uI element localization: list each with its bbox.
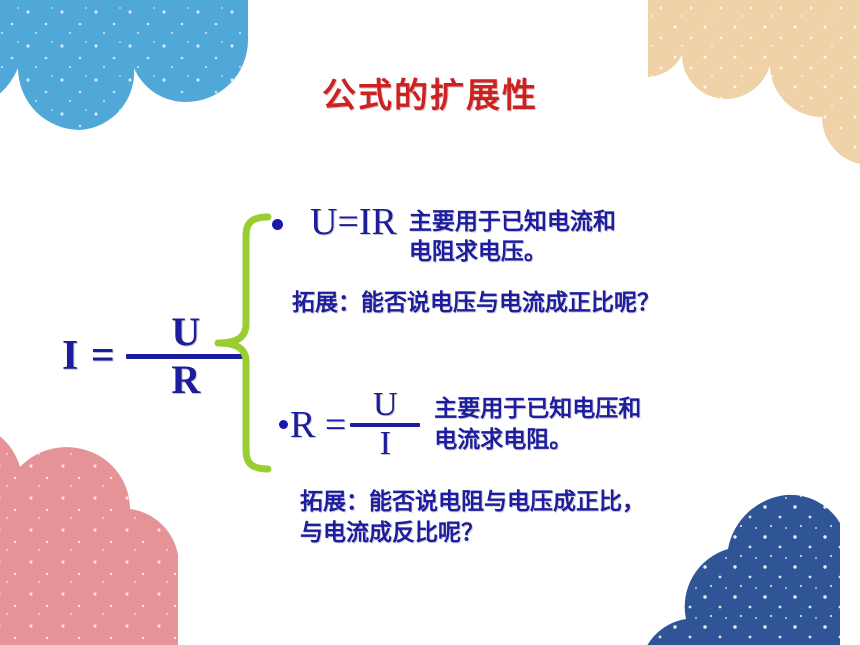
bullet-icon <box>272 219 283 230</box>
list-item-rui: R = U I 主要用于已知电压和 电流求电阻。 <box>279 388 641 461</box>
formula-uir: U=IR <box>310 203 397 241</box>
slide-canvas: 公式的扩展性 I = U R U=IR 主要用于已知电流和 电阻求电压。 拓展：… <box>0 0 860 645</box>
page-title: 公式的扩展性 <box>0 68 860 117</box>
master-formula-numerator: U <box>171 312 200 353</box>
master-formula-lhs: I = <box>62 335 116 377</box>
extension-question-2: 拓展：能否说电阻与电压成正比， 与电流成反比呢？ <box>300 487 645 549</box>
bullet-icon <box>279 420 288 429</box>
list-item-uir: U=IR 主要用于已知电流和 电阻求电压。 <box>272 203 616 268</box>
master-formula-denominator: R <box>171 360 200 401</box>
formula-rui-numerator: U <box>373 388 398 423</box>
extension-question-1: 拓展：能否说电压与电流成正比呢？ <box>292 289 660 319</box>
formula-rui-fraction: U I <box>350 388 420 461</box>
formula-rui-lhs: R = <box>290 406 346 444</box>
description-uir: 主要用于已知电流和 电阻求电压。 <box>409 207 616 268</box>
curly-brace-icon <box>212 212 274 474</box>
description-rui: 主要用于已知电压和 电流求电阻。 <box>434 394 641 455</box>
formula-rui-denominator: I <box>380 427 391 462</box>
